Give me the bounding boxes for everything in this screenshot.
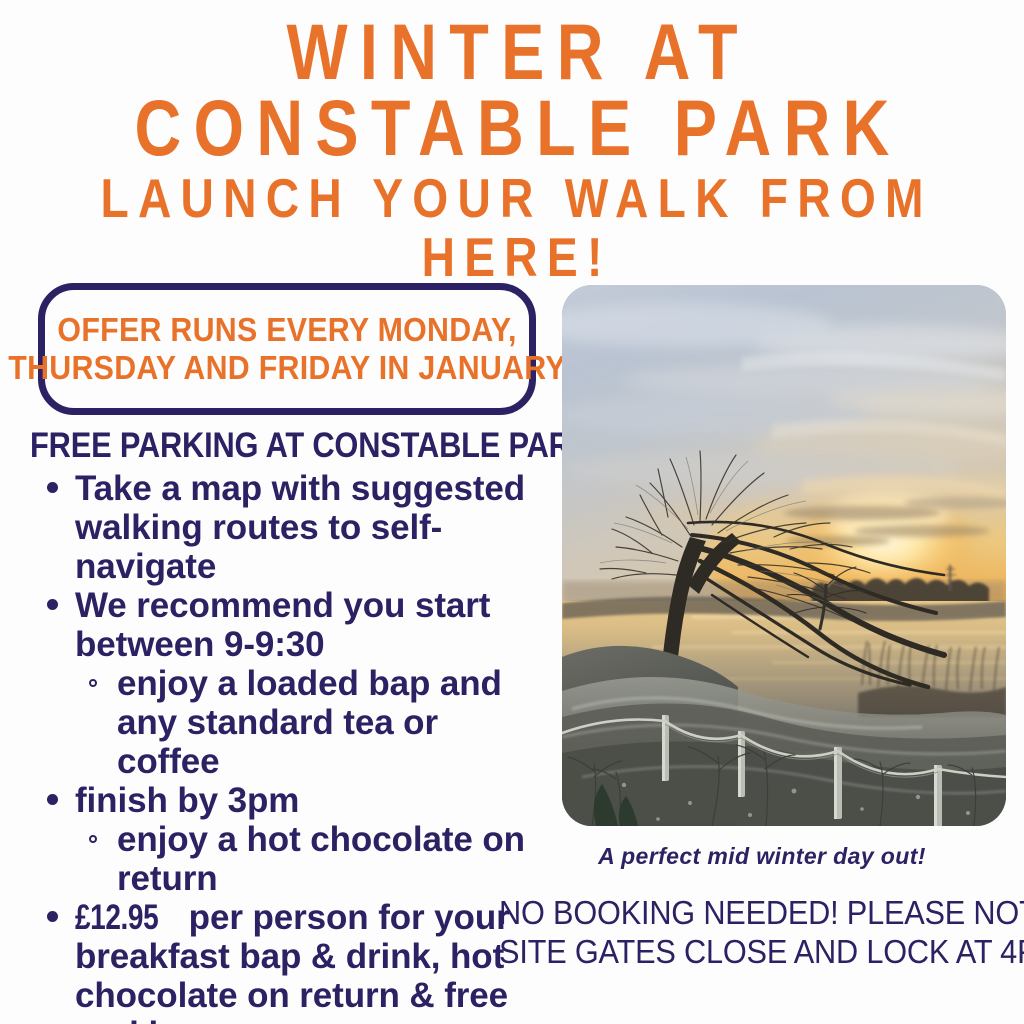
bullet-text-price: £12.95 per person for your breakfast bap…: [75, 898, 542, 1024]
offer-callout-box: OFFER RUNS EVERY MONDAY, THURSDAY AND FR…: [38, 283, 536, 415]
bullet-dot-icon: [47, 482, 58, 493]
price-value: £12.95: [75, 898, 158, 937]
footer-note: NO BOOKING NEEDED! PLEASE NOTE THAT OUR …: [480, 893, 1024, 971]
details-sub-list: enjoy a loaded bap and any standard tea …: [75, 664, 542, 781]
bullet-circle-icon: [89, 679, 97, 687]
bullet-text: Take a map with suggested walking routes…: [75, 469, 542, 586]
headline-block: WINTER AT CONSTABLE PARK LAUNCH YOUR WAL…: [0, 14, 1024, 284]
subheadline-line-1: LAUNCH YOUR WALK FROM: [82, 166, 942, 225]
bullet-dot-icon: [47, 911, 58, 922]
list-item: finish by 3pm enjoy a hot chocolate on r…: [22, 781, 542, 898]
winter-sunrise-photo: [562, 285, 1006, 826]
list-item: Take a map with suggested walking routes…: [22, 469, 542, 586]
list-item: enjoy a hot chocolate on return: [75, 820, 542, 898]
details-sub-list: enjoy a hot chocolate on return: [75, 820, 542, 898]
bullet-dot-icon: [47, 599, 58, 610]
footer-line-2: SITE GATES CLOSE AND LOCK AT 4PM.: [499, 932, 1005, 971]
headline-line-2: CONSTABLE PARK: [92, 90, 932, 166]
bullet-circle-icon: [89, 835, 97, 843]
subheadline-line-2: HERE!: [82, 225, 942, 284]
photo-caption: A perfect mid winter day out!: [500, 843, 1024, 870]
list-item: We recommend you start between 9-9:30 en…: [22, 586, 542, 781]
bullet-text: We recommend you start between 9-9:30: [75, 586, 542, 664]
headline-line-1: WINTER AT: [92, 14, 932, 90]
sub-bullet-text: enjoy a hot chocolate on return: [117, 820, 542, 898]
bullet-text: finish by 3pm: [75, 781, 542, 820]
details-column: FREE PARKING AT CONSTABLE PARK Take a ma…: [22, 427, 542, 1024]
section-heading: FREE PARKING AT CONSTABLE PARK: [30, 427, 481, 465]
offer-line-2: THURSDAY AND FRIDAY IN JANUARY: [8, 349, 566, 386]
bullet-dot-icon: [47, 794, 58, 805]
footer-line-1: NO BOOKING NEEDED! PLEASE NOTE THAT OUR: [499, 893, 1005, 932]
list-item: £12.95 per person for your breakfast bap…: [22, 898, 542, 1024]
list-item: enjoy a loaded bap and any standard tea …: [75, 664, 542, 781]
offer-text: OFFER RUNS EVERY MONDAY, THURSDAY AND FR…: [8, 311, 566, 387]
details-bullet-list: Take a map with suggested walking routes…: [22, 469, 542, 1024]
offer-line-1: OFFER RUNS EVERY MONDAY,: [57, 311, 516, 348]
sub-bullet-text: enjoy a loaded bap and any standard tea …: [117, 664, 542, 781]
poster-root: WINTER AT CONSTABLE PARK LAUNCH YOUR WAL…: [0, 0, 1024, 1024]
